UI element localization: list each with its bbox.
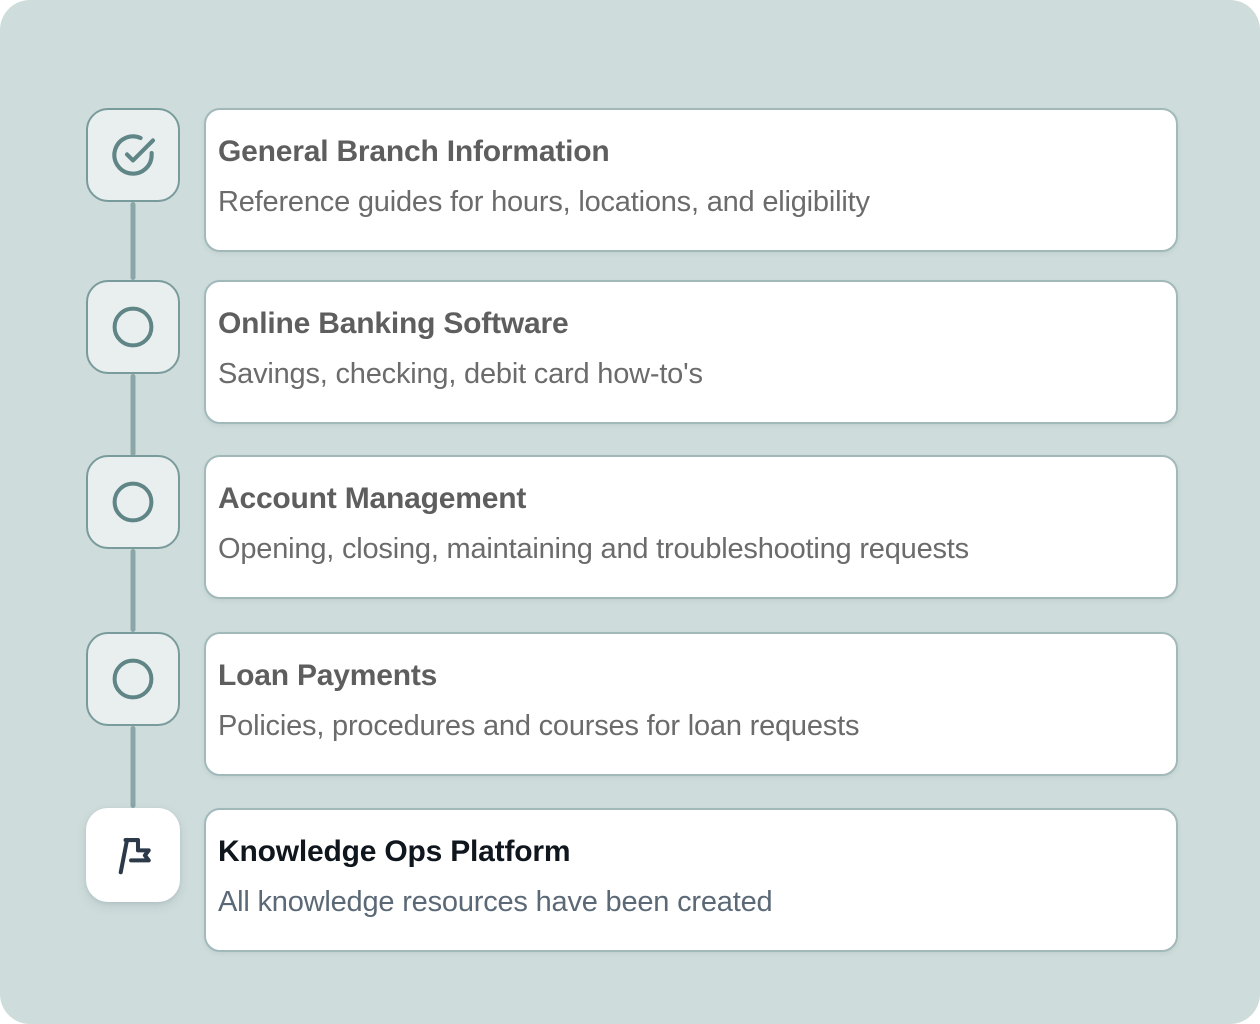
card-subtitle: Opening, closing, maintaining and troubl… — [218, 532, 1154, 567]
knowledge-ops-timeline: General Branch Information Reference gui… — [0, 0, 1260, 1024]
timeline-step-loan-payments[interactable]: Loan Payments Policies, procedures and c… — [86, 632, 1178, 776]
timeline-rail — [86, 455, 180, 549]
step-marker-circle[interactable] — [86, 455, 180, 549]
card-title: Loan Payments — [218, 658, 1154, 693]
card-title: Account Management — [218, 481, 1154, 516]
timeline-connector — [131, 202, 136, 280]
timeline-card[interactable]: General Branch Information Reference gui… — [204, 108, 1178, 252]
check-circle-icon — [107, 129, 159, 181]
card-title: Knowledge Ops Platform — [218, 834, 1154, 869]
card-subtitle: All knowledge resources have been create… — [218, 885, 1154, 920]
card-subtitle: Savings, checking, debit card how-to's — [218, 357, 1154, 392]
timeline-rail — [86, 108, 180, 202]
circle-icon — [109, 303, 157, 351]
timeline-page: General Branch Information Reference gui… — [0, 0, 1260, 1024]
card-title: Online Banking Software — [218, 306, 1154, 341]
timeline-card[interactable]: Account Management Opening, closing, mai… — [204, 455, 1178, 599]
circle-icon — [109, 478, 157, 526]
card-subtitle: Policies, procedures and courses for loa… — [218, 709, 1154, 744]
step-marker-circle[interactable] — [86, 280, 180, 374]
timeline-connector — [131, 726, 136, 808]
timeline-step-knowledge-ops-platform[interactable]: Knowledge Ops Platform All knowledge res… — [86, 808, 1178, 952]
timeline-step-online-banking-software[interactable]: Online Banking Software Savings, checkin… — [86, 280, 1178, 424]
timeline-connector — [131, 374, 136, 456]
step-marker-flag[interactable] — [86, 808, 180, 902]
timeline-connector — [131, 549, 136, 632]
card-subtitle: Reference guides for hours, locations, a… — [218, 185, 1154, 220]
circle-icon — [109, 655, 157, 703]
timeline-step-account-management[interactable]: Account Management Opening, closing, mai… — [86, 455, 1178, 599]
card-title: General Branch Information — [218, 134, 1154, 169]
timeline-rail — [86, 280, 180, 374]
timeline-card[interactable]: Knowledge Ops Platform All knowledge res… — [204, 808, 1178, 952]
timeline-rail — [86, 808, 180, 902]
timeline-rail — [86, 632, 180, 726]
step-marker-circle[interactable] — [86, 632, 180, 726]
flag-icon — [110, 832, 156, 878]
timeline-step-general-branch-information[interactable]: General Branch Information Reference gui… — [86, 108, 1178, 252]
timeline-card[interactable]: Loan Payments Policies, procedures and c… — [204, 632, 1178, 776]
timeline-card[interactable]: Online Banking Software Savings, checkin… — [204, 280, 1178, 424]
step-marker-check-circle[interactable] — [86, 108, 180, 202]
